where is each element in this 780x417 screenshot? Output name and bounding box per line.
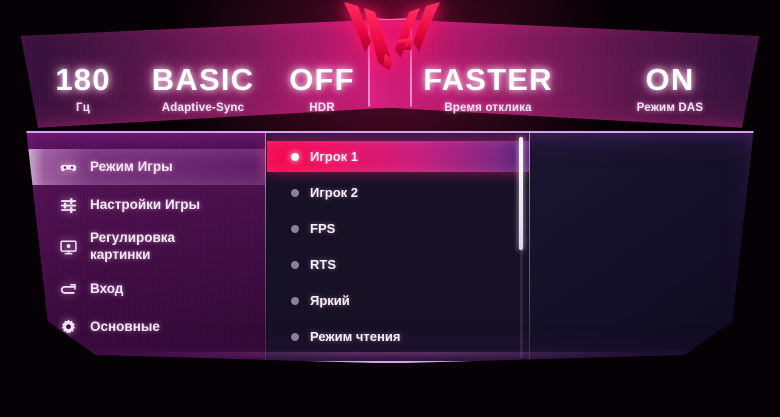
options-divider	[529, 131, 530, 363]
sidebar-item-game-mode[interactable]: Режим Игры	[22, 149, 265, 185]
sidebar-item-input[interactable]: Вход	[22, 273, 265, 305]
header-stat-refresh-rate: 180 Гц	[28, 64, 138, 114]
radio-dot	[291, 333, 299, 341]
sidebar-item-label: Вход	[90, 281, 123, 298]
radio-dot	[291, 153, 299, 161]
radio-dot	[291, 261, 299, 269]
osd-sidebar: Режим Игры Настройки Игры	[22, 131, 265, 363]
option-row-player-1[interactable]: Игрок 1	[267, 141, 529, 172]
option-row-vivid[interactable]: Яркий	[267, 285, 529, 316]
option-label: RTS	[310, 257, 336, 272]
option-row-fps[interactable]: FPS	[267, 213, 529, 244]
gear-icon	[58, 317, 78, 337]
radio-dot	[291, 225, 299, 233]
stat-unit: Adaptive-Sync	[128, 102, 278, 114]
sidebar-item-label: Регулировка картинки	[90, 230, 175, 264]
sidebar-item-game-settings[interactable]: Настройки Игры	[22, 189, 265, 221]
stat-value: 180	[28, 64, 138, 95]
stat-unit: Режим DAS	[600, 102, 740, 114]
osd-detail-pane	[530, 131, 758, 363]
osd-menu-panel: Режим Игры Настройки Игры	[22, 131, 758, 363]
option-row-player-2[interactable]: Игрок 2	[267, 177, 529, 208]
sidebar-item-label: Режим Игры	[90, 159, 173, 176]
osd-options-panel: Игрок 1 Игрок 2 FPS RTS Яркий Режим чтен…	[267, 131, 529, 363]
stat-value: ON	[600, 64, 740, 95]
sidebar-item-picture-adjust[interactable]: Регулировка картинки	[22, 225, 265, 269]
option-label: FPS	[310, 221, 335, 236]
radio-dot	[291, 297, 299, 305]
gamepad-icon	[58, 157, 78, 177]
stat-unit: HDR	[272, 102, 372, 114]
option-row-rts[interactable]: RTS	[267, 249, 529, 280]
options-scrollbar-thumb[interactable]	[519, 137, 523, 250]
header-stat-adaptive-sync: BASIC Adaptive-Sync	[128, 64, 278, 114]
sliders-icon	[58, 195, 78, 215]
option-label: Яркий	[310, 293, 350, 308]
monitor-gear-icon	[58, 237, 78, 257]
input-plug-icon	[58, 279, 78, 299]
lg-ultragear-logo	[341, 0, 443, 74]
sidebar-item-label: Настройки Игры	[90, 197, 200, 214]
sidebar-item-general[interactable]: Основные	[22, 311, 265, 343]
option-label: Режим чтения	[310, 329, 400, 344]
stat-unit: Гц	[28, 102, 138, 114]
header-stat-das-mode: ON Режим DAS	[600, 64, 740, 114]
monitor-osd-screenshot: 180 Гц BASIC Adaptive-Sync OFF HDR FASTE…	[0, 0, 780, 417]
radio-dot	[291, 189, 299, 197]
option-row-reader-mode[interactable]: Режим чтения	[267, 321, 529, 352]
option-label: Игрок 2	[310, 185, 358, 200]
stat-value: BASIC	[128, 64, 278, 95]
sidebar-divider	[265, 131, 266, 363]
stat-unit: Время отклика	[408, 102, 568, 114]
option-label: Игрок 1	[310, 149, 358, 164]
sidebar-item-label: Основные	[90, 319, 160, 336]
